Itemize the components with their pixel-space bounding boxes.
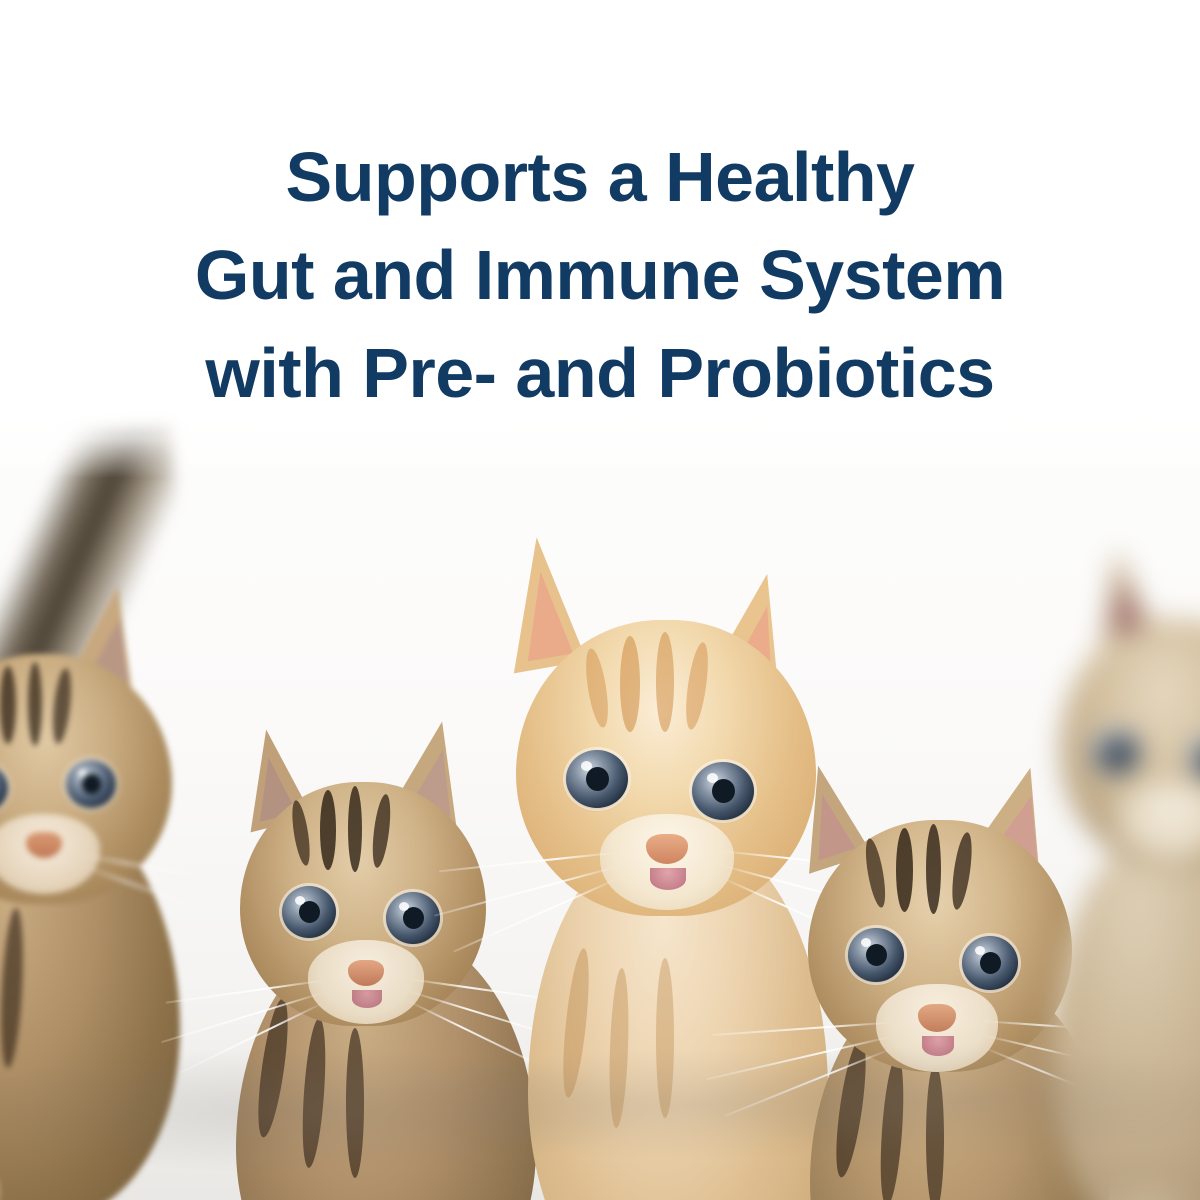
kitten-left-forehead-stripe bbox=[28, 662, 42, 746]
kitten-center-forehead-stripe bbox=[656, 632, 674, 732]
kitten-center-eye-glint bbox=[707, 773, 718, 783]
kitten-fourth-eye-right bbox=[962, 936, 1018, 990]
kitten-center-pupil-left bbox=[586, 767, 609, 791]
kitten-left-eye-glint bbox=[78, 769, 87, 777]
kitten-fourth-forehead-stripe bbox=[896, 828, 913, 912]
kittens-photo bbox=[0, 408, 1200, 1200]
kitten-center-forehead-stripe bbox=[620, 636, 640, 732]
kitten-center-eye-glint bbox=[581, 761, 592, 771]
kitten-second-eye-glint bbox=[295, 896, 305, 905]
kitten-left-forehead-stripe bbox=[0, 666, 16, 744]
headline-block: Supports a Healthy Gut and Immune System… bbox=[0, 0, 1200, 412]
headline-line-3: with Pre- and Probiotics bbox=[205, 324, 994, 422]
kitten-center-pupil-right bbox=[712, 779, 735, 803]
kittens-photo-inner bbox=[0, 408, 1200, 1200]
headline-line-1: Supports a Healthy bbox=[286, 128, 915, 226]
floor-shadow bbox=[0, 990, 1200, 1200]
kitten-center-mouth bbox=[650, 868, 686, 890]
kitten-center-eye-right bbox=[692, 762, 754, 820]
kitten-fourth-eye-glint bbox=[861, 938, 871, 947]
kitten-fourth-eye-glint bbox=[975, 946, 985, 955]
kitten-right-pupil-left bbox=[1107, 743, 1125, 761]
kitten-fourth-eye-left bbox=[848, 928, 904, 982]
kitten-second-forehead-stripe bbox=[348, 786, 362, 872]
kitten-fourth-pupil-left bbox=[866, 944, 887, 966]
kitten-fourth-pupil-right bbox=[980, 952, 1001, 974]
kitten-second-eye-right bbox=[386, 892, 440, 944]
kitten-right-eye-left bbox=[1092, 730, 1140, 774]
product-benefit-banner: Supports a Healthy Gut and Immune System… bbox=[0, 0, 1200, 1200]
kitten-left-pupil-right bbox=[82, 774, 101, 794]
kitten-left-eye-right bbox=[66, 760, 116, 808]
headline-line-2: Gut and Immune System bbox=[195, 226, 1005, 324]
kitten-fourth-forehead-stripe bbox=[926, 824, 941, 914]
kitten-second-eye-glint bbox=[399, 902, 409, 911]
kitten-second-forehead-stripe bbox=[320, 790, 336, 870]
kitten-second-eye-left bbox=[282, 886, 336, 938]
kitten-center-eye-left bbox=[566, 750, 628, 808]
